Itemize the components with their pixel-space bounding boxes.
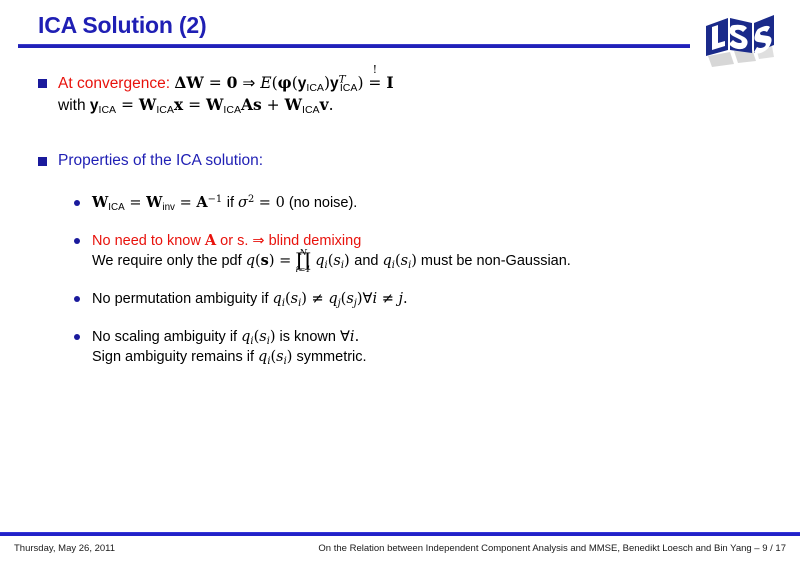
must-be-label: must be non-Gaussian. (421, 253, 571, 269)
equation-convergence: ΔW = 0 ⇒ E(φ(yICA)yTICA) != I (174, 74, 393, 92)
no-need-label: No need to know (92, 233, 201, 249)
subbullet-blind-demixing-line1: No need to know A or s. ⇒ blind demixing (92, 231, 800, 251)
equation-qi-2: qi(si) (382, 253, 416, 269)
subbullet-no-scaling-line2: Sign ambiguity remains if qi(si) symmetr… (92, 347, 800, 367)
bullet-properties-label: Properties of the ICA solution: (58, 150, 800, 171)
round-bullet-icon (74, 334, 80, 340)
bullet-properties: Properties of the ICA solution: (0, 150, 800, 171)
slide-body: At convergence: ΔW = 0 ⇒ E(φ(yICA)yTICA)… (0, 72, 800, 369)
lss-logo-icon (700, 12, 778, 72)
equation-permutation: qi(si) ≠ qj(sj)∀i ≠ j. (273, 291, 408, 307)
equation-sigma: σ2 = 0 (238, 195, 285, 211)
square-bullet-icon (38, 79, 47, 88)
subbullet-wica-text: WICA = Winv = A−1 if σ2 = 0 (no noise). (92, 193, 800, 213)
equation-pdf: q(s) = ∏Ni=1 qi(si) (246, 253, 355, 269)
round-bullet-icon (74, 200, 80, 206)
forall-i: ∀i. (340, 329, 359, 345)
footer-divider (0, 532, 800, 536)
subbullet-blind-demixing: No need to know A or s. ⇒ blind demixing… (0, 231, 800, 271)
equation-yica: yICA = WICAx = WICAAs + WICAv. (90, 96, 334, 114)
subbullet-no-scaling: No scaling ambiguity if qi(si) is known … (0, 327, 800, 367)
implies-icon: ⇒ (252, 233, 264, 249)
no-permutation-label: No permutation ambiguity if (92, 291, 269, 307)
equation-wica: WICA = Winv = A−1 (92, 195, 227, 211)
title-divider (18, 44, 690, 48)
square-bullet-icon (38, 157, 47, 166)
spacer (0, 175, 800, 193)
bullet-at-convergence: At convergence: ΔW = 0 ⇒ E(φ(yICA)yTICA)… (0, 72, 800, 116)
page-title: ICA Solution (2) (38, 12, 206, 39)
footer-date: Thursday, May 26, 2011 (14, 543, 115, 554)
bullet-at-convergence-line2: with yICA = WICAx = WICAAs + WICAv. (58, 94, 800, 116)
footer-reference: On the Relation between Independent Comp… (318, 543, 786, 554)
blind-demixing-label: blind demixing (269, 233, 362, 249)
no-noise-label: (no noise). (289, 195, 358, 211)
we-require-label: We require only the pdf (92, 253, 242, 269)
and-label: and (354, 253, 378, 269)
sign-ambiguity-label: Sign ambiguity remains if (92, 349, 254, 365)
symmetric-label: symmetric. (296, 349, 366, 365)
no-scaling-label: No scaling ambiguity if (92, 329, 237, 345)
spacer (0, 120, 800, 150)
spacer (0, 273, 800, 289)
matrix-A: A (205, 232, 216, 249)
lss-logo (700, 12, 778, 72)
if-label: if (227, 195, 234, 211)
subbullet-wica-equals: WICA = Winv = A−1 if σ2 = 0 (no noise). (0, 193, 800, 213)
spacer (0, 215, 800, 231)
subbullet-no-scaling-line1: No scaling ambiguity if qi(si) is known … (92, 327, 800, 347)
is-known-label: is known (280, 329, 336, 345)
subbullet-no-permutation: No permutation ambiguity if qi(si) ≠ qj(… (0, 289, 800, 309)
or-s-label: or s. (220, 233, 248, 249)
bullet-at-convergence-line1: At convergence: ΔW = 0 ⇒ E(φ(yICA)yTICA)… (58, 72, 800, 94)
equation-qi-3: qi(si) (241, 329, 275, 345)
with-label: with (58, 97, 86, 114)
spacer (0, 311, 800, 327)
subbullet-no-permutation-text: No permutation ambiguity if qi(si) ≠ qj(… (92, 289, 800, 309)
equation-qi-4: qi(si) (258, 349, 292, 365)
round-bullet-icon (74, 238, 80, 244)
subbullet-blind-demixing-line2: We require only the pdf q(s) = ∏Ni=1 qi(… (92, 251, 800, 271)
label-at-convergence: At convergence: (58, 75, 170, 92)
round-bullet-icon (74, 296, 80, 302)
